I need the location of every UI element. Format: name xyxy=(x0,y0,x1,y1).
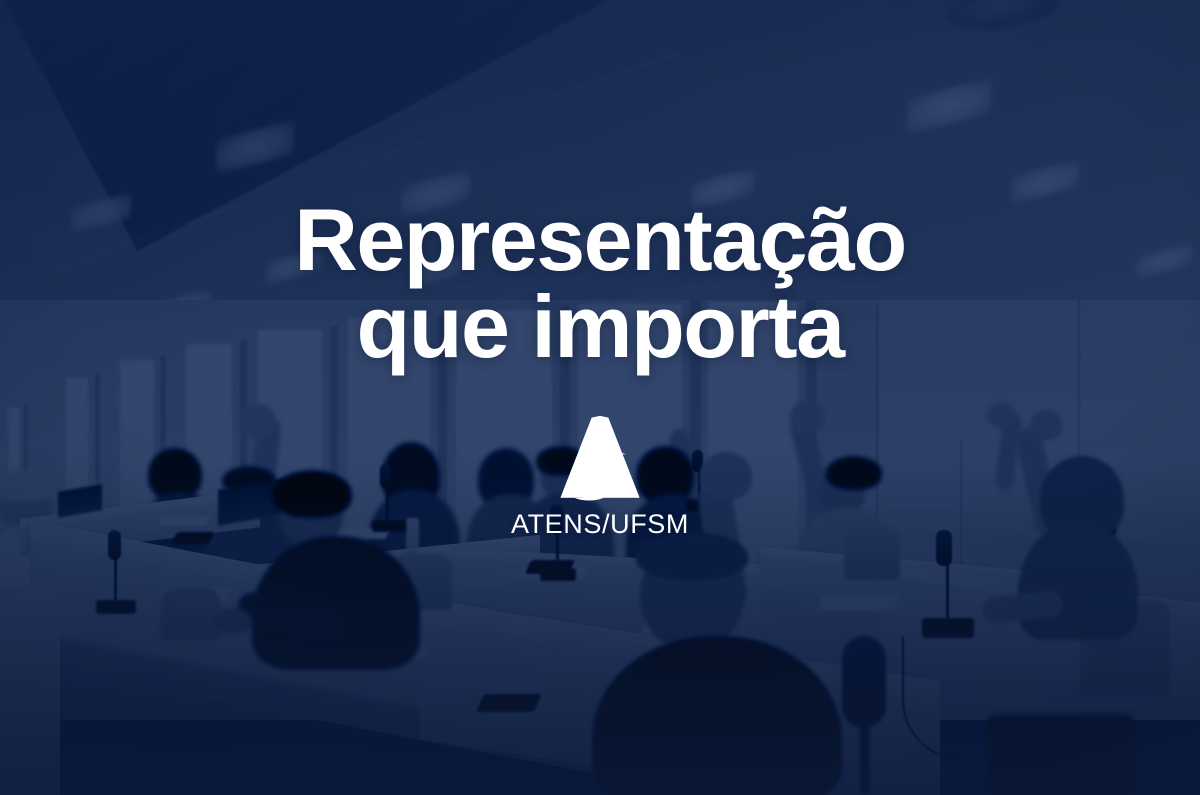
atens-a-swoosh-icon xyxy=(554,414,646,506)
headline-line-2: que importa xyxy=(0,283,1200,370)
logo-wordmark: ATENS/UFSM xyxy=(0,509,1200,540)
headline-line-1: Representação xyxy=(294,190,905,289)
atens-ufsm-logo: ATENS/UFSM xyxy=(0,414,1200,540)
campaign-headline: Representação que importa xyxy=(0,196,1200,370)
atens-ufsm-campaign-banner: Representação que importa xyxy=(0,0,1200,795)
